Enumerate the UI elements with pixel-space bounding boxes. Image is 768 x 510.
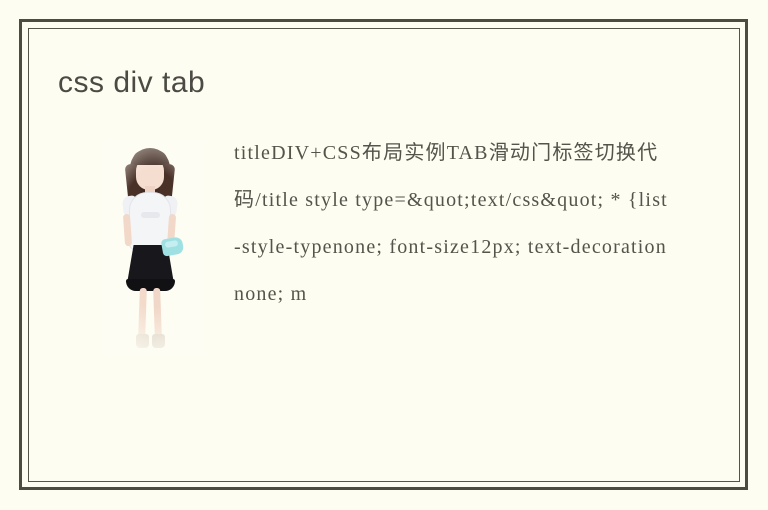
photo-shoe-right bbox=[152, 334, 165, 348]
photo-shoe-left bbox=[136, 334, 149, 348]
page-root: css div tab titleDIV+CSS布局实例TAB滑动 bbox=[0, 0, 768, 510]
article-thumbnail[interactable] bbox=[102, 140, 206, 355]
article-content: titleDIV+CSS布局实例TAB滑动门标签切换代码/title style… bbox=[58, 130, 698, 400]
photo-leg-left bbox=[138, 288, 147, 338]
photo-skirt-ruffle bbox=[126, 279, 175, 291]
article-snippet: titleDIV+CSS布局实例TAB滑动门标签切换代码/title style… bbox=[234, 130, 670, 318]
photo-fringe bbox=[133, 151, 167, 165]
photo-leg-right bbox=[153, 288, 162, 338]
page-title: css div tab bbox=[58, 66, 205, 100]
photo-top-bow bbox=[141, 212, 160, 218]
